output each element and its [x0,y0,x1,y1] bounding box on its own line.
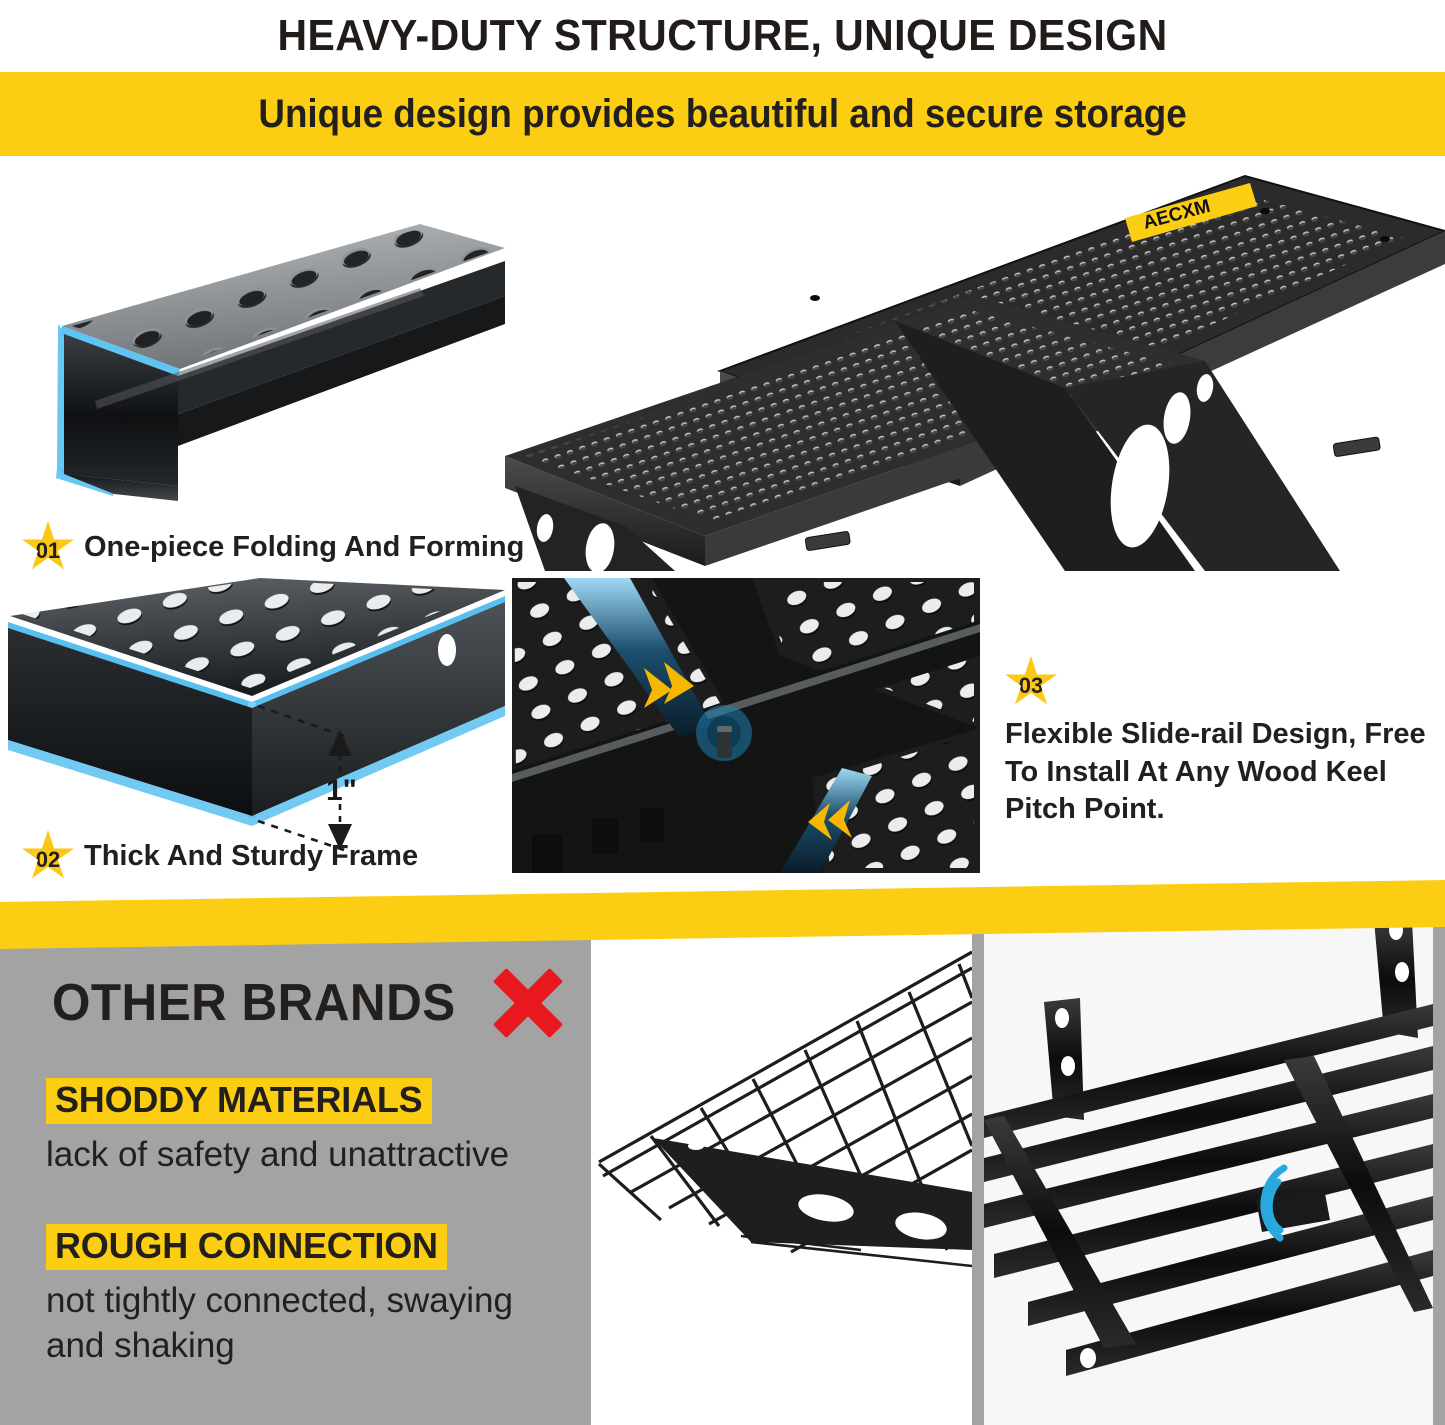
feature-label: One-piece Folding And Forming [84,531,524,564]
flaw-description: lack of safety and unattractive [46,1133,566,1177]
header-subtitle-band: Unique design provides beautiful and sec… [0,72,1445,156]
feature-caption-03: 03 Flexible Slide-rail Design, Free To I… [1005,656,1435,829]
page-subtitle: Unique design provides beautiful and sec… [258,92,1186,137]
page-title: HEAVY-DUTY STRUCTURE, UNIQUE DESIGN [277,11,1167,61]
feature-photo-slide-rail [512,578,980,873]
competitor-wire-mesh-photo [591,920,972,1425]
comparison-heading: OTHER BRANDS [52,966,565,1040]
feature-label: Flexible Slide-rail Design, Free To Inst… [1005,716,1435,829]
slide-rail-illustration [512,578,980,873]
flaw-description: not tightly connected, swaying and shaki… [46,1279,566,1367]
red-x-icon [491,966,565,1040]
feature-photo-thick-frame: 1" [0,578,505,873]
star-badge-icon: 01 [22,521,74,573]
flaw-item: ROUGH CONNECTION not tightly connected, … [46,1224,566,1368]
hero-shelf-illustration: AECXM [505,156,1445,571]
comparison-heading-text: OTHER BRANDS [52,973,456,1033]
dimension-label: 1" [326,774,357,807]
flaw-highlight: ROUGH CONNECTION [46,1224,447,1270]
hero-product-photo: AECXM [505,156,1445,571]
feature-caption-02: 02 Thick And Sturdy Frame [22,831,418,881]
feature-number: 03 [1019,673,1043,699]
feature-label: Thick And Sturdy Frame [84,840,418,873]
header-title-bar: HEAVY-DUTY STRUCTURE, UNIQUE DESIGN [0,0,1445,72]
feature-caption-01: 01 One-piece Folding And Forming [22,522,524,572]
feature-number: 01 [36,538,60,564]
wire-mesh-rack-illustration [591,920,972,1425]
c-channel-illustration [0,156,505,568]
corner-thickness-illustration: 1" [0,578,505,873]
star-badge-icon: 03 [1005,656,1057,708]
flaw-item: SHODDY MATERIALS lack of safety and unat… [46,1078,566,1178]
competitor-flat-bar-photo [984,920,1433,1425]
other-brands-comparison-section: OTHER BRANDS SHODDY MATERIALS lack of sa… [0,908,1445,1425]
flat-bar-rack-illustration [984,920,1433,1425]
feature-photo-one-piece-folding [0,156,505,568]
star-badge-icon: 02 [22,830,74,882]
feature-number: 02 [36,847,60,873]
flaw-highlight: SHODDY MATERIALS [46,1078,432,1124]
feature-showcase-section: AECXM [0,156,1445,898]
